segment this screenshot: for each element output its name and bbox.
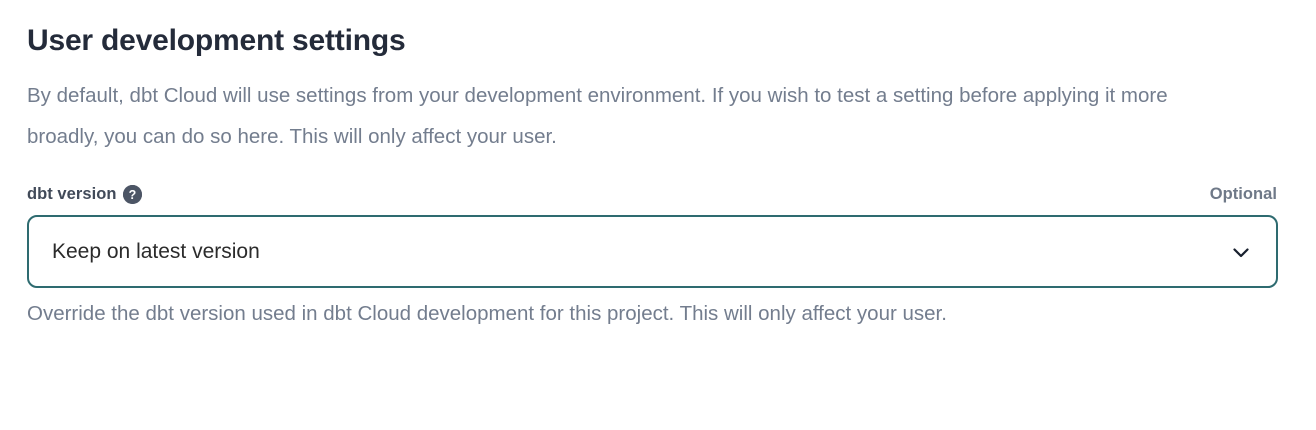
dbt-version-field: dbt version ? Optional Keep on latest ve… [27, 183, 1278, 329]
section-description: By default, dbt Cloud will use settings … [27, 61, 1242, 157]
svg-text:?: ? [129, 188, 137, 202]
dbt-version-selected-value: Keep on latest version [52, 239, 260, 265]
optional-badge: Optional [1210, 184, 1277, 204]
dbt-version-label: dbt version [27, 184, 116, 204]
page-title: User development settings [27, 0, 1278, 61]
dbt-version-help-text: Override the dbt version used in dbt Clo… [27, 288, 1278, 329]
dbt-version-label-group: dbt version ? [27, 184, 142, 204]
dbt-version-label-row: dbt version ? Optional [27, 183, 1278, 205]
chevron-down-icon[interactable] [1228, 239, 1254, 265]
user-development-settings-panel: User development settings By default, db… [0, 0, 1316, 430]
dbt-version-select[interactable]: Keep on latest version [27, 215, 1278, 288]
question-mark-circle-icon[interactable]: ? [123, 185, 142, 204]
